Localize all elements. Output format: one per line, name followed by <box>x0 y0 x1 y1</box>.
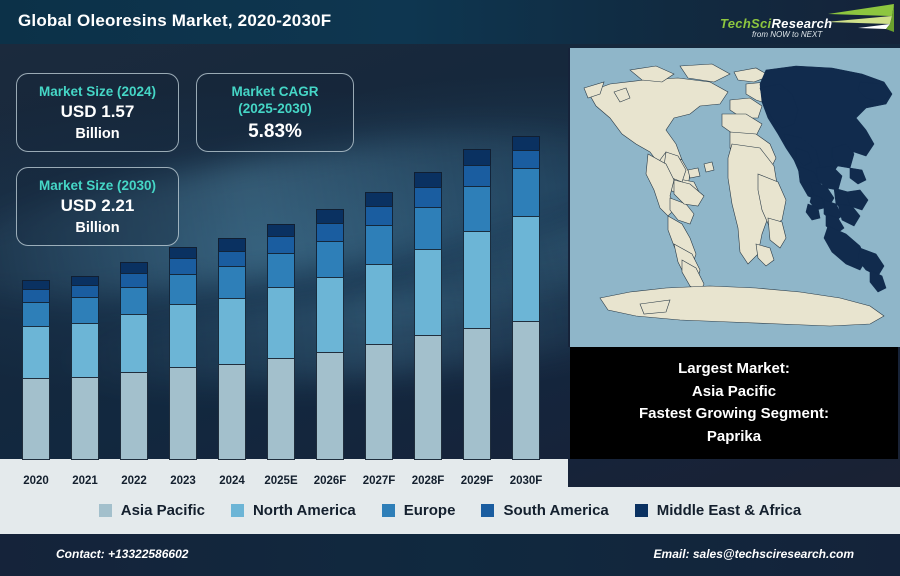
largest-market-callout: Largest Market: Asia Pacific Fastest Gro… <box>570 347 898 459</box>
x-axis-label-2020: 2020 <box>8 475 64 487</box>
logo-text-techsci: TechSci <box>720 16 771 31</box>
bar-segment-south-america <box>316 223 344 242</box>
bar-segment-north-america <box>169 304 197 368</box>
legend-label: Europe <box>404 502 456 519</box>
legend-swatch-icon <box>635 504 648 517</box>
legend-swatch-icon <box>382 504 395 517</box>
bar-segment-europe <box>365 225 393 265</box>
bar-segment-asia-pacific <box>512 321 540 461</box>
header-bar: Global Oleoresins Market, 2020-2030F Tec… <box>0 0 900 44</box>
legend-label: South America <box>503 502 608 519</box>
legend-item-north-america[interactable]: North America <box>231 502 356 519</box>
legend-label: Middle East & Africa <box>657 502 801 519</box>
bar-segment-europe <box>22 302 50 327</box>
bar-segment-europe <box>120 287 148 315</box>
bar-segment-europe <box>267 253 295 289</box>
bar-segment-middle-east-africa <box>267 224 295 237</box>
bar-2024 <box>218 238 246 459</box>
bar-segment-south-america <box>120 273 148 288</box>
bar-segment-south-america <box>414 187 442 208</box>
bar-segment-europe <box>512 168 540 217</box>
callout-line-4: Paprika <box>707 426 761 449</box>
techsci-research-logo: TechSciResearch from NOW to NEXT <box>708 2 894 44</box>
x-axis-label-2026f: 2026F <box>302 475 358 487</box>
x-axis-label-2029f: 2029F <box>449 475 505 487</box>
legend-item-asia-pacific[interactable]: Asia Pacific <box>99 502 205 519</box>
legend-label: Asia Pacific <box>121 502 205 519</box>
bar-2025e <box>267 224 295 459</box>
bar-segment-europe <box>169 274 197 305</box>
bar-segment-asia-pacific <box>463 328 491 460</box>
x-axis-label-2030f: 2030F <box>498 475 554 487</box>
bar-segment-south-america <box>218 251 246 267</box>
x-axis-label-2022: 2022 <box>106 475 162 487</box>
footer-email: Email: sales@techsciresearch.com <box>654 547 854 561</box>
logo-wordmark: TechSciResearch <box>720 16 832 31</box>
stacked-bar-chart: 202020212022202320242025E2026F2027F2028F… <box>0 44 568 487</box>
bar-2029f <box>463 149 491 459</box>
bar-segment-south-america <box>267 236 295 254</box>
bar-2030f <box>512 136 540 459</box>
bar-segment-asia-pacific <box>22 378 50 460</box>
bar-segment-europe <box>414 207 442 250</box>
bar-segment-middle-east-africa <box>463 149 491 165</box>
x-axis-label-2025e: 2025E <box>253 475 309 487</box>
x-axis-label-2021: 2021 <box>57 475 113 487</box>
legend-item-south-america[interactable]: South America <box>481 502 608 519</box>
callout-line-2: Asia Pacific <box>692 381 776 404</box>
world-map-icon <box>570 48 900 347</box>
bar-segment-europe <box>71 297 99 324</box>
bar-segment-north-america <box>512 216 540 321</box>
bar-2023 <box>169 247 197 459</box>
legend-swatch-icon <box>481 504 494 517</box>
bar-segment-north-america <box>267 287 295 358</box>
legend-item-middle-east-africa[interactable]: Middle East & Africa <box>635 502 801 519</box>
bar-segment-asia-pacific <box>71 377 99 460</box>
x-axis-label-2023: 2023 <box>155 475 211 487</box>
bar-segment-asia-pacific <box>365 344 393 460</box>
bar-segment-south-america <box>463 165 491 187</box>
world-map-panel <box>568 48 900 347</box>
bar-segment-middle-east-africa <box>316 209 344 224</box>
page-title: Global Oleoresins Market, 2020-2030F <box>18 11 331 31</box>
x-axis-label-2027f: 2027F <box>351 475 407 487</box>
legend-label: North America <box>253 502 356 519</box>
x-axis-label-2024: 2024 <box>204 475 260 487</box>
bar-segment-europe <box>463 186 491 232</box>
legend-swatch-icon <box>231 504 244 517</box>
bar-segment-middle-east-africa <box>218 238 246 251</box>
footer-bar: Contact: +13322586602 Email: sales@techs… <box>0 534 900 576</box>
legend-item-europe[interactable]: Europe <box>382 502 456 519</box>
bar-2021 <box>71 276 99 459</box>
callout-line-3: Fastest Growing Segment: <box>639 403 829 426</box>
bar-segment-middle-east-africa <box>365 192 393 207</box>
callout-line-1: Largest Market: <box>678 358 790 381</box>
bar-segment-north-america <box>414 249 442 337</box>
bar-segment-north-america <box>463 231 491 329</box>
bar-2020 <box>22 280 50 459</box>
bar-segment-asia-pacific <box>414 335 442 460</box>
footer-contact: Contact: +13322586602 <box>56 547 188 561</box>
bar-2022 <box>120 262 148 459</box>
bar-segment-middle-east-africa <box>414 172 442 188</box>
bar-segment-asia-pacific <box>267 358 295 460</box>
bar-segment-north-america <box>71 323 99 378</box>
bar-segment-south-america <box>512 150 540 169</box>
bar-segment-middle-east-africa <box>512 136 540 151</box>
bar-segment-asia-pacific <box>218 364 246 460</box>
bar-segment-europe <box>218 266 246 299</box>
bar-2026f <box>316 209 344 459</box>
bar-segment-north-america <box>120 314 148 373</box>
bar-segment-asia-pacific <box>120 372 148 460</box>
bar-segment-south-america <box>71 285 99 298</box>
bar-segment-south-america <box>365 206 393 225</box>
bar-2028f <box>414 172 442 459</box>
logo-text-research: Research <box>771 16 832 31</box>
bar-segment-north-america <box>316 277 344 353</box>
bar-segment-south-america <box>169 258 197 274</box>
bar-segment-south-america <box>22 289 50 302</box>
bar-segment-north-america <box>218 298 246 365</box>
bar-segment-asia-pacific <box>169 367 197 461</box>
bar-segment-north-america <box>365 264 393 346</box>
bar-segment-europe <box>316 241 344 278</box>
chart-legend: Asia PacificNorth AmericaEuropeSouth Ame… <box>0 487 900 534</box>
bar-segment-asia-pacific <box>316 352 344 460</box>
bar-segment-north-america <box>22 326 50 379</box>
bar-2027f <box>365 192 393 459</box>
logo-tagline: from NOW to NEXT <box>752 30 822 39</box>
x-axis-label-2028f: 2028F <box>400 475 456 487</box>
legend-swatch-icon <box>99 504 112 517</box>
